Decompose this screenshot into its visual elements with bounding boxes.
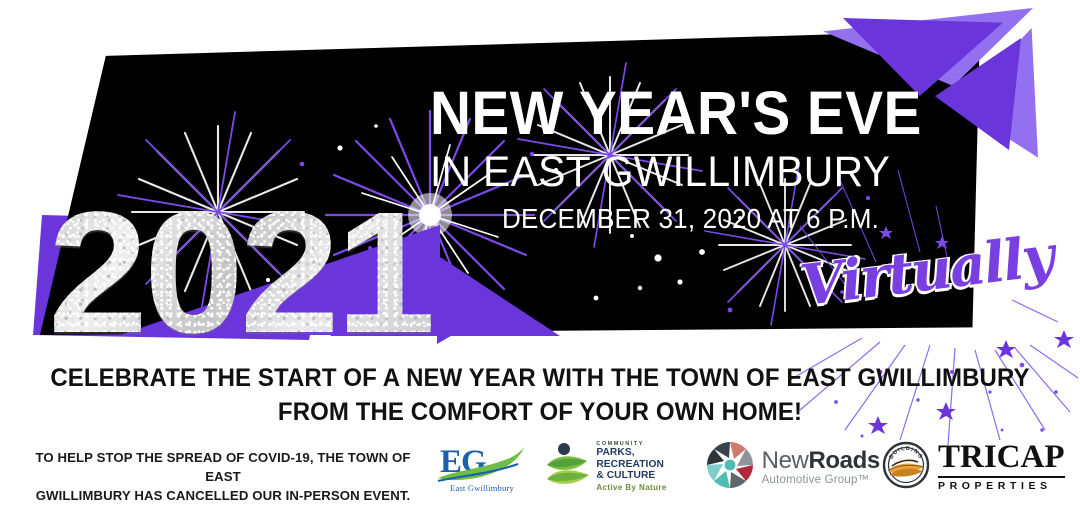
covid-disclaimer: TO HELP STOP THE SPREAD OF COVID-19, THE… bbox=[18, 448, 428, 505]
hero-text-block: NEW YEAR'S EVE IN EAST GWILLIMBURY DECEM… bbox=[430, 84, 950, 235]
sponsor-logo-row: EG East Gwillimbury COMMUNITY bbox=[430, 432, 1070, 502]
tagline-line-2: FROM THE COMFORT OF YOUR OWN HOME! bbox=[22, 396, 1059, 430]
sponsor-logo-newroads: NewRoads Automotive Group™ bbox=[705, 440, 869, 495]
sponsor-logo-tricap-properties: BUILDING TRICAP PROPERTIES bbox=[880, 439, 1070, 496]
new-years-eve-banner: NEW YEAR'S EVE IN EAST GWILLIMBURY DECEM… bbox=[0, 0, 1080, 517]
year-2021-glitter: 2021 bbox=[48, 186, 432, 359]
tagline-line-1: CELEBRATE THE START OF A NEW YEAR WITH T… bbox=[22, 362, 1059, 396]
eg-mark-icon: EG bbox=[434, 442, 530, 486]
newroads-name-light: New bbox=[762, 447, 809, 474]
subtitle: IN EAST GWILLIMBURY bbox=[430, 149, 924, 195]
newroads-subtitle: Automotive Group™ bbox=[762, 474, 880, 486]
covid-disclaimer-line-1: TO HELP STOP THE SPREAD OF COVID-19, THE… bbox=[18, 448, 428, 486]
newroads-name-bold: Roads bbox=[808, 447, 879, 474]
prc-tagline: Active By Nature bbox=[596, 484, 693, 493]
tricap-badge-icon: BUILDING bbox=[880, 439, 932, 496]
sponsor-logo-parks-recreation-culture: COMMUNITY PARKS, RECREATION & CULTURE Ac… bbox=[545, 441, 693, 494]
sponsor-logo-east-gwillimbury: EG East Gwillimbury bbox=[430, 442, 534, 493]
page-title: NEW YEAR'S EVE bbox=[430, 84, 914, 143]
tricap-wordmark: TRICAP bbox=[938, 442, 1065, 473]
newroads-text-block: NewRoads Automotive Group™ bbox=[762, 448, 880, 486]
tricap-subtitle: PROPERTIES bbox=[938, 480, 1065, 492]
covid-disclaimer-line-2: GWILLIMBURY HAS CANCELLED OUR IN-PERSON … bbox=[18, 486, 428, 505]
newroads-wordmark: NewRoads bbox=[762, 448, 880, 473]
prc-text-block: COMMUNITY PARKS, RECREATION & CULTURE Ac… bbox=[596, 442, 693, 493]
tagline: CELEBRATE THE START OF A NEW YEAR WITH T… bbox=[22, 362, 1059, 429]
event-datetime: DECEMBER 31, 2020 AT 6 P.M. bbox=[502, 203, 919, 235]
tricap-divider bbox=[938, 476, 1065, 478]
prc-mark-icon bbox=[545, 441, 591, 494]
prc-line-2: & CULTURE bbox=[596, 470, 693, 481]
tricap-text-block: TRICAP PROPERTIES bbox=[938, 442, 1065, 491]
prc-line-1: PARKS, RECREATION bbox=[596, 447, 693, 470]
newroads-aperture-icon bbox=[705, 440, 755, 495]
